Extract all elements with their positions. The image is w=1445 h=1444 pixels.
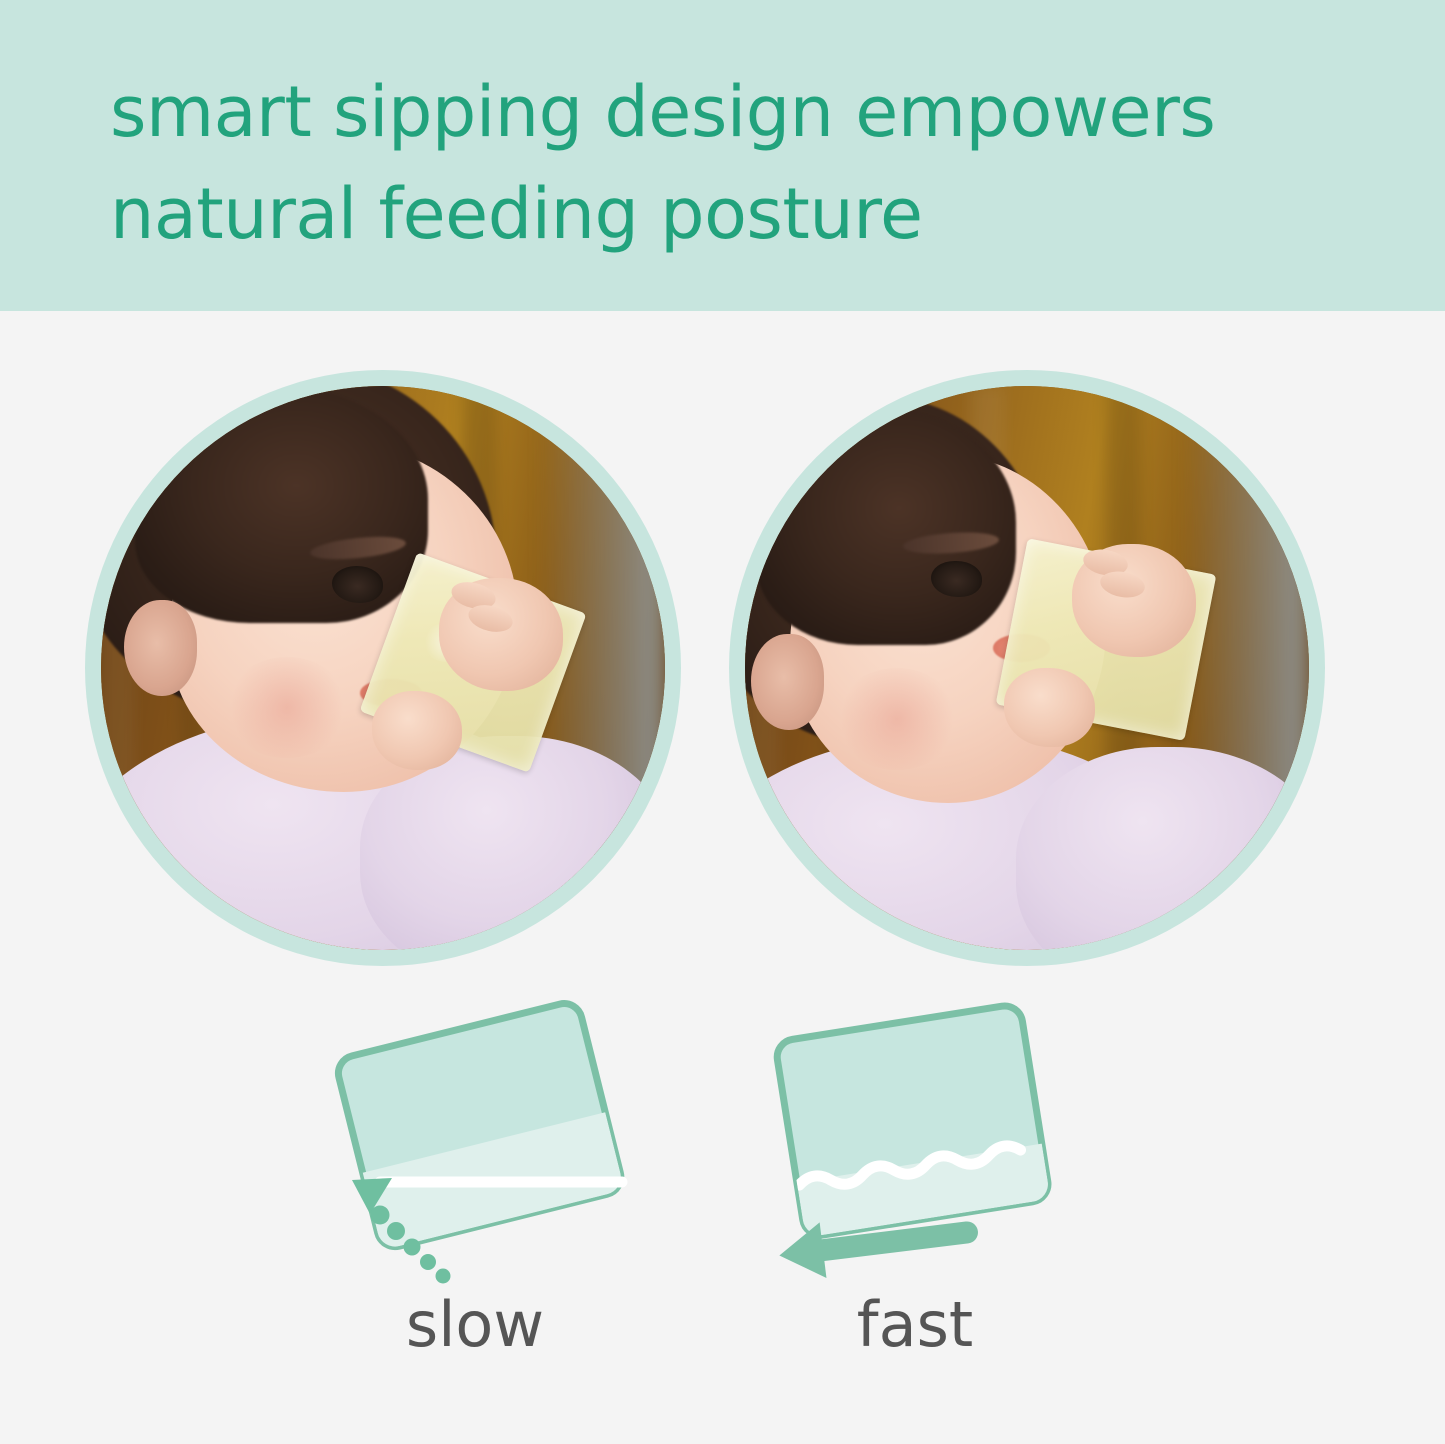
diagram-slow-svg bbox=[330, 1000, 670, 1290]
baby-ear bbox=[124, 600, 197, 696]
arrow-dot bbox=[436, 1269, 451, 1284]
page-title: smart sipping design empowers natural fe… bbox=[110, 62, 1390, 265]
diagram-fast bbox=[760, 1000, 1100, 1290]
diagram-slow bbox=[330, 1000, 670, 1290]
arrow-dot bbox=[371, 1206, 390, 1225]
cup-shape-fast bbox=[775, 1003, 1051, 1237]
baby-eye bbox=[332, 566, 383, 603]
photo-baby-drinking-tilted-cup bbox=[85, 370, 681, 966]
baby-cheek bbox=[835, 668, 959, 770]
scene-left bbox=[101, 386, 665, 950]
caption-slow: slow bbox=[325, 1288, 625, 1361]
baby-hand-lower bbox=[372, 691, 462, 770]
photo-right-image bbox=[745, 386, 1309, 950]
photo-baby-drinking-cup-close bbox=[729, 370, 1325, 966]
header-banner: smart sipping design empowers natural fe… bbox=[0, 0, 1445, 311]
baby-hand-lower bbox=[1004, 668, 1094, 747]
arrow-dot bbox=[420, 1254, 436, 1270]
baby-eye bbox=[931, 561, 982, 598]
diagram-fast-svg bbox=[760, 1000, 1100, 1290]
scene-right bbox=[745, 386, 1309, 950]
arrow-head-fast bbox=[776, 1222, 826, 1283]
baby-ear bbox=[751, 634, 824, 730]
arrow-dot bbox=[387, 1222, 405, 1240]
baby-sleeve bbox=[1016, 747, 1309, 950]
baby-hair-fringe bbox=[756, 409, 1015, 646]
arrow-dot bbox=[404, 1239, 421, 1256]
baby-cheek bbox=[225, 657, 349, 759]
photo-left-image bbox=[101, 386, 665, 950]
caption-fast: fast bbox=[765, 1288, 1065, 1361]
baby-hair-fringe bbox=[135, 386, 428, 623]
